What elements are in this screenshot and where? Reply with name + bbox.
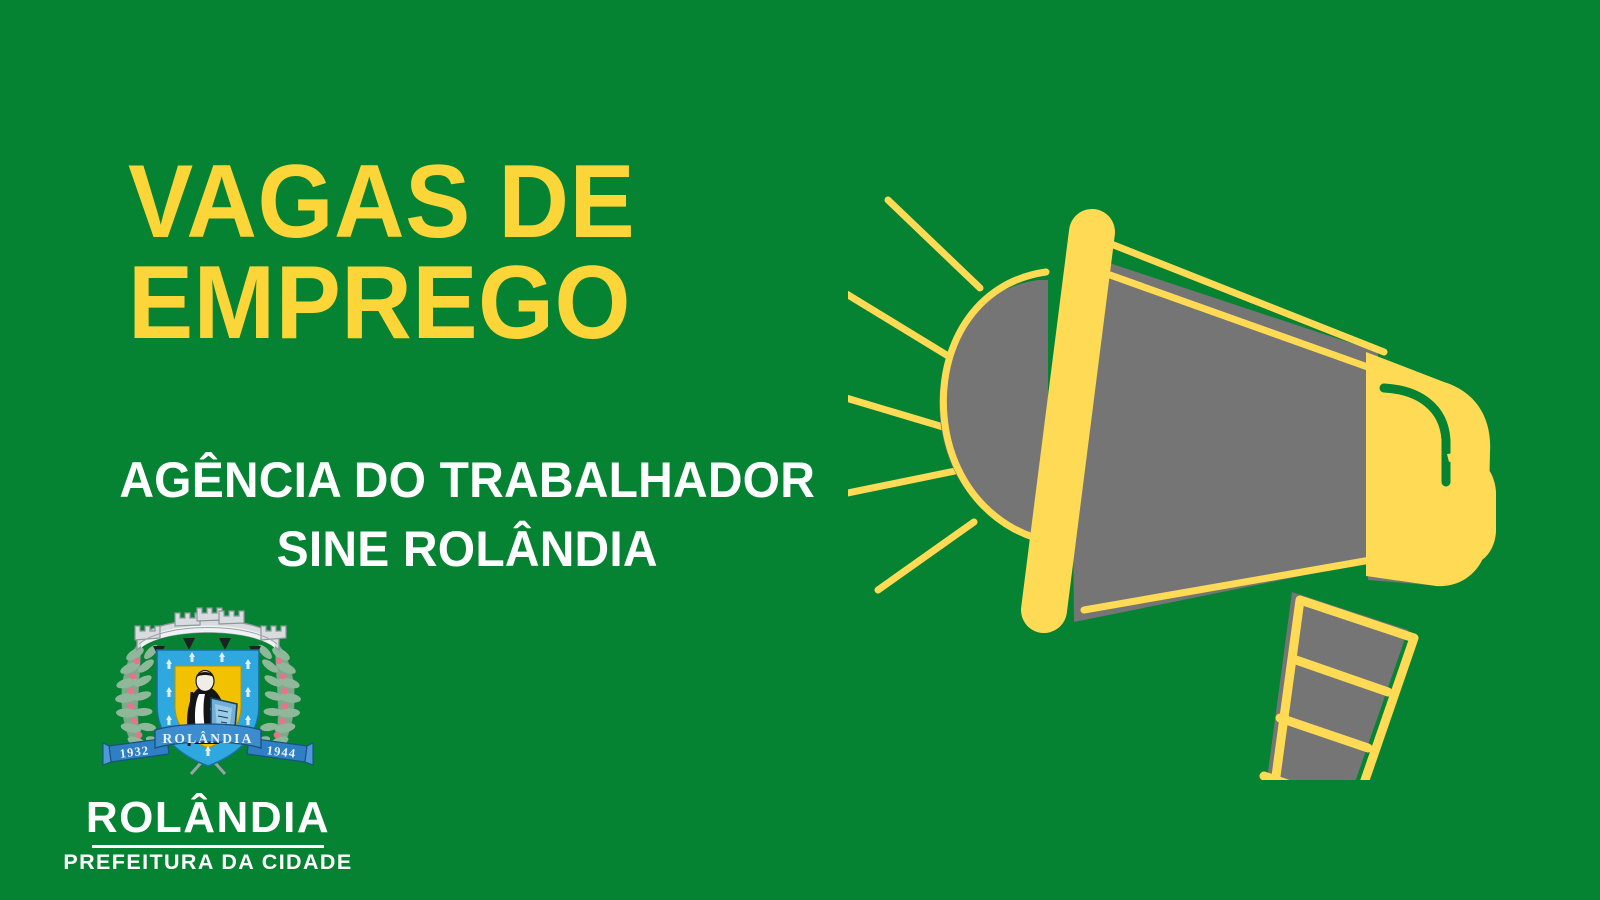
sound-ray — [878, 522, 974, 590]
prefeitura-logo: ROLÂNDIA 1932 1944 ROLÂNDIA PREFEITURA D… — [58, 596, 358, 874]
megaphone-illustration — [848, 140, 1588, 780]
logo-divider — [92, 845, 324, 848]
shield — [157, 650, 259, 766]
poster-canvas: VAGAS DE EMPREGO AGÊNCIA DO TRABALHADOR … — [0, 0, 1600, 900]
page-title: VAGAS DE EMPREGO — [128, 152, 861, 354]
crest-banner-year-right: 1944 — [266, 743, 297, 761]
megaphone-bell-disc — [939, 280, 1048, 540]
crest-banner-year-left: 1932 — [119, 743, 150, 761]
crest-banner-city: ROLÂNDIA — [162, 731, 253, 746]
sound-ray — [848, 290, 958, 362]
logo-city-name: ROLÂNDIA — [58, 796, 358, 840]
coat-of-arms-icon: ROLÂNDIA 1932 1944 — [79, 596, 337, 792]
logo-tagline: PREFEITURA DA CIDADE — [58, 852, 358, 874]
logo-wordmark: ROLÂNDIA PREFEITURA DA CIDADE — [58, 796, 358, 874]
sound-ray — [848, 470, 960, 495]
subtitle: AGÊNCIA DO TRABALHADOR SINE ROLÂNDIA — [88, 446, 846, 584]
sound-ray — [888, 200, 980, 288]
